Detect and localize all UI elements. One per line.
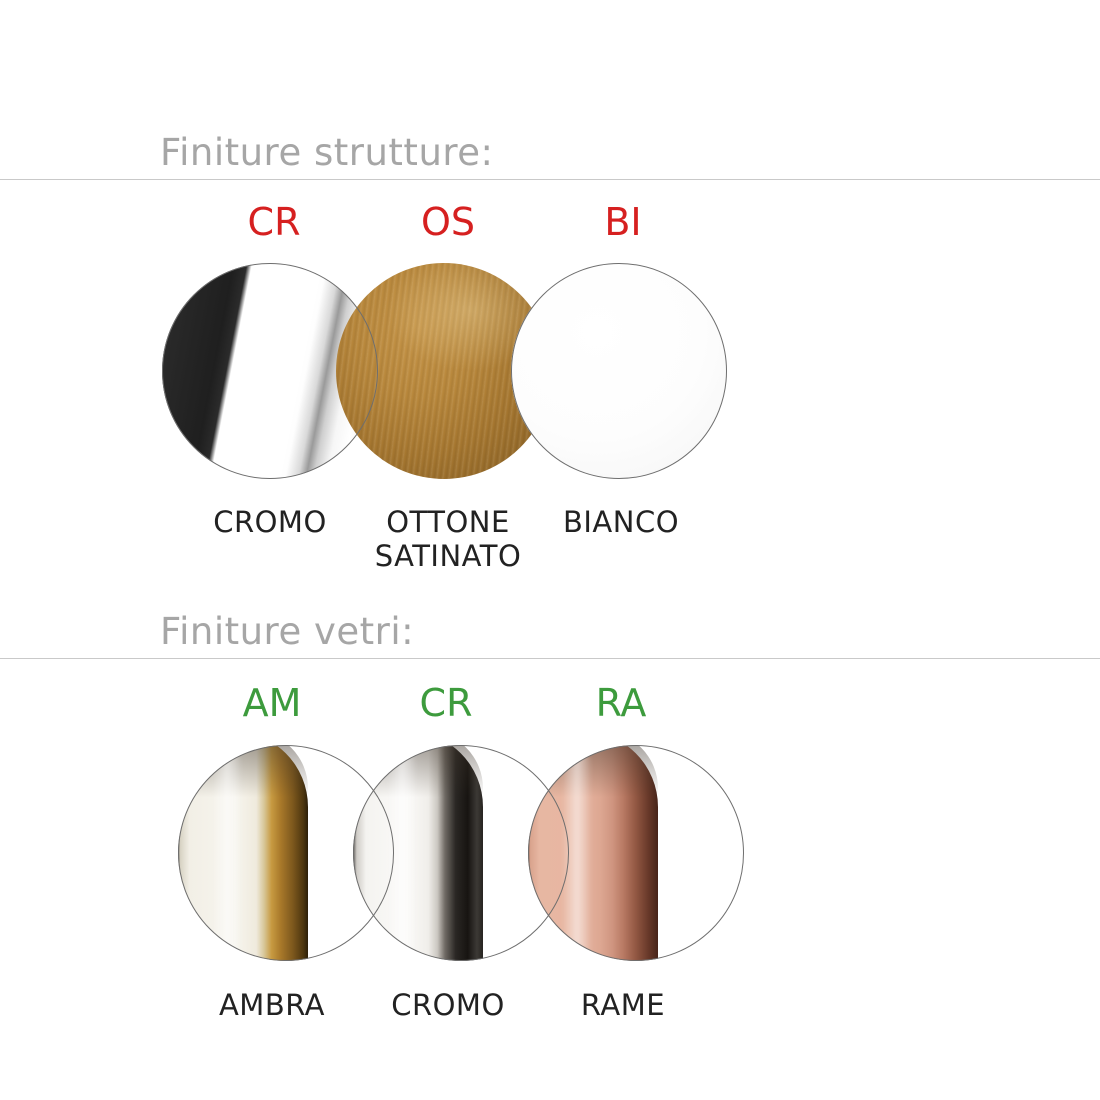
code-vetri-ra[interactable]: RA [541,681,701,725]
swatch-rame[interactable] [528,745,744,961]
code-strutture-cr[interactable]: CR [194,200,354,244]
section-strutture-header: Finiture strutture: [0,134,1100,180]
section-vetri-header: Finiture vetri: [0,613,1100,659]
code-strutture-os[interactable]: OS [368,200,528,244]
swatch-glass-cromo-highlight [387,751,417,961]
swatches-row-strutture [0,263,1100,483]
code-vetri-cr[interactable]: CR [366,681,526,725]
swatches-row-vetri [0,745,1100,965]
label-bianco: BIANCO [511,505,731,539]
finishes-page: Finiture strutture: CR OS BI CROMO OTTON… [0,0,1100,1100]
section-title-vetri: Finiture vetri: [0,613,1100,652]
swatch-rame-cap [528,745,658,823]
swatch-ambra-highlight [212,751,242,961]
code-strutture-bi[interactable]: BI [543,200,703,244]
swatch-bianco[interactable] [511,263,727,479]
section-divider-strutture [0,179,1100,180]
section-title-strutture: Finiture strutture: [0,134,1100,173]
label-rame: RAME [513,988,733,1022]
swatch-glass-cromo-cap [353,745,483,823]
swatch-rame-fill [528,745,744,961]
code-vetri-am[interactable]: AM [192,681,352,725]
swatch-bianco-fill [511,263,727,479]
section-divider-vetri [0,658,1100,659]
swatch-ambra-cap [178,745,308,823]
swatch-rame-highlight [562,751,592,961]
codes-row-vetri: AM CR RA [0,681,1100,729]
codes-row-strutture: CR OS BI [0,200,1100,248]
